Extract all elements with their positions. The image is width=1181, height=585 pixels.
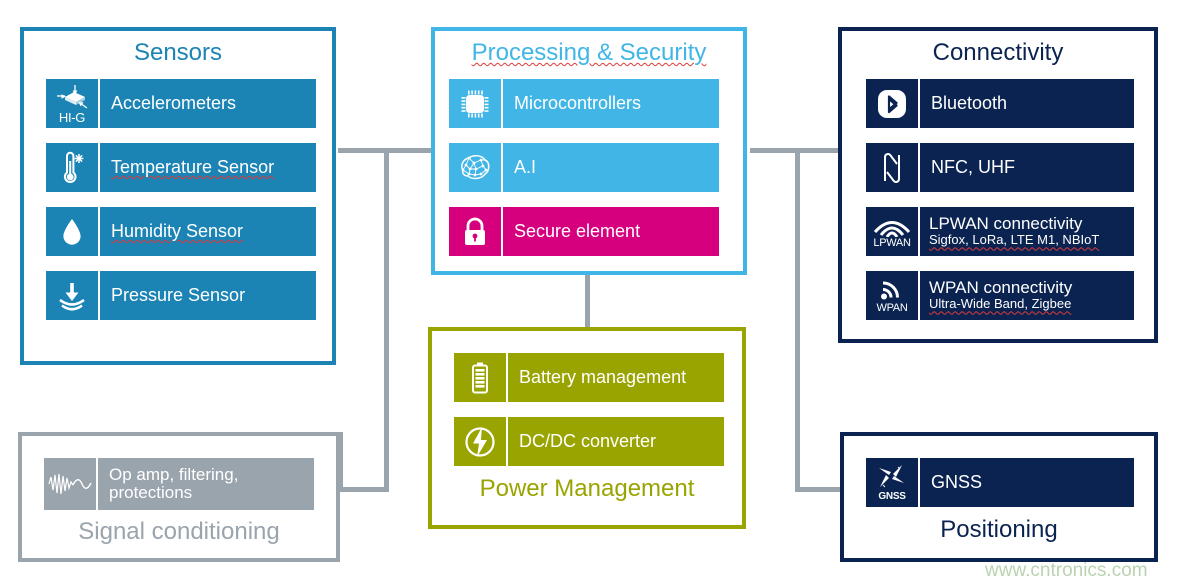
row-pressure-sensor[interactable]: Pressure Sensor [46, 271, 316, 320]
row-temperature-sensor[interactable]: Temperature Sensor [46, 143, 316, 192]
group-signal-conditioning: Op amp, filtering, protections Signal co… [18, 432, 340, 562]
chip-glyph [460, 89, 490, 119]
row-op-amp-filtering[interactable]: Op amp, filtering, protections [44, 458, 314, 510]
row-humidity-label: Humidity Sensor [100, 207, 316, 256]
group-sensors-title: Sensors [24, 39, 332, 67]
group-power-title: Power Management [432, 475, 742, 503]
accelerometer-glyph [55, 84, 89, 110]
wifi-arc-icon: LPWAN [866, 207, 918, 256]
group-connectivity: Connectivity Bluetooth N [838, 27, 1158, 343]
row-battery-management[interactable]: Battery management [454, 353, 724, 402]
group-positioning: GNSS GNSS Positioning [840, 432, 1158, 562]
row-dcdc-label: DC/DC converter [508, 417, 724, 466]
row-pressure-label: Pressure Sensor [100, 271, 316, 320]
nfc-glyph [879, 151, 905, 185]
group-connectivity-title: Connectivity [842, 39, 1154, 67]
wpan-icon-tag: WPAN [877, 303, 908, 314]
group-processing-security: Processing & Security [431, 27, 747, 275]
watermark-text: www.cntronics.com [985, 560, 1148, 582]
thermometer-glyph [59, 151, 85, 185]
row-nfc-uhf[interactable]: NFC, UHF [866, 143, 1134, 192]
row-label-text: GNSS [931, 473, 1134, 492]
connector-trunk-positioning [795, 487, 843, 492]
row-op-amp-label: Op amp, filtering, protections [98, 458, 314, 510]
group-sensors: Sensors HI-G Accelerometers [20, 27, 336, 365]
row-label-line1: Op amp, filtering, [109, 466, 314, 484]
row-gnss[interactable]: GNSS GNSS [866, 458, 1134, 507]
accelerometer-hi-g-icon: HI-G [46, 79, 98, 128]
accelerometer-icon-tag: HI-G [59, 111, 85, 124]
row-label-text: DC/DC converter [519, 432, 724, 451]
bolt-circle-glyph [463, 425, 497, 459]
lightning-bolt-circle-icon [454, 417, 506, 466]
row-sublabel-text: Ultra-Wide Band, Zigbee [929, 297, 1134, 312]
row-secure-element[interactable]: Secure element [449, 207, 719, 256]
row-label-text: Temperature Sensor [111, 158, 316, 177]
gnss-icon-tag: GNSS [878, 492, 905, 502]
row-ai[interactable]: A.I [449, 143, 719, 192]
thermometer-snowflake-icon [46, 143, 98, 192]
row-wpan[interactable]: WPAN WPAN connectivity Ultra-Wide Band, … [866, 271, 1134, 320]
wifi-arc-glyph [872, 215, 912, 237]
lpwan-icon-tag: LPWAN [873, 238, 910, 249]
connector-left-trunk [384, 148, 389, 492]
row-bluetooth[interactable]: Bluetooth [866, 79, 1134, 128]
row-gnss-label: GNSS [920, 458, 1134, 507]
signal-waves-glyph [878, 278, 906, 302]
connector-processing-power [585, 272, 590, 330]
bluetooth-icon [866, 79, 918, 128]
bluetooth-glyph [875, 87, 909, 121]
row-secure-element-label: Secure element [503, 207, 719, 256]
waveform-glyph [47, 471, 93, 497]
padlock-glyph [461, 216, 489, 248]
row-label-text: Secure element [514, 222, 719, 241]
row-label-text: LPWAN connectivity [929, 215, 1134, 233]
row-label-text: Humidity Sensor [111, 222, 316, 241]
brain-glyph [458, 153, 492, 183]
droplet-glyph [60, 216, 84, 248]
row-label-line2: protections [109, 484, 314, 502]
row-humidity-sensor[interactable]: Humidity Sensor [46, 207, 316, 256]
group-processing-title: Processing & Security [435, 39, 743, 67]
row-sublabel-text: Sigfox, LoRa, LTE M1, NBIoT [929, 233, 1134, 248]
row-nfc-uhf-label: NFC, UHF [920, 143, 1134, 192]
row-label-text: Pressure Sensor [111, 286, 316, 305]
compass-glyph [876, 463, 908, 491]
signal-waves-icon: WPAN [866, 271, 918, 320]
row-microcontrollers[interactable]: Microcontrollers [449, 79, 719, 128]
row-bluetooth-label: Bluetooth [920, 79, 1134, 128]
row-accelerometers[interactable]: HI-G Accelerometers [46, 79, 316, 128]
compass-gnss-icon: GNSS [866, 458, 918, 507]
brain-network-icon [449, 143, 501, 192]
connector-signal-trunk [340, 487, 388, 492]
row-label-text: Microcontrollers [514, 94, 719, 113]
row-wpan-label: WPAN connectivity Ultra-Wide Band, Zigbe… [920, 271, 1134, 320]
row-dcdc-converter[interactable]: DC/DC converter [454, 417, 724, 466]
battery-glyph [469, 361, 491, 395]
row-label-text: Accelerometers [111, 94, 316, 113]
row-label-text: WPAN connectivity [929, 279, 1134, 297]
group-positioning-title: Positioning [844, 516, 1154, 544]
pressure-arrow-waves-icon [46, 271, 98, 320]
pressure-glyph [56, 280, 88, 312]
row-accelerometers-label: Accelerometers [100, 79, 316, 128]
row-lpwan-label: LPWAN connectivity Sigfox, LoRa, LTE M1,… [920, 207, 1134, 256]
group-power-management: Battery management DC/DC converter Power… [428, 327, 746, 529]
water-drop-icon [46, 207, 98, 256]
group-signal-title: Signal conditioning [22, 518, 336, 546]
row-lpwan[interactable]: LPWAN LPWAN connectivity Sigfox, LoRa, L… [866, 207, 1134, 256]
waveform-icon [44, 458, 96, 510]
row-label-text: NFC, UHF [931, 158, 1134, 177]
nfc-icon [866, 143, 918, 192]
row-ai-label: A.I [503, 143, 719, 192]
row-label-text: Bluetooth [931, 94, 1134, 113]
iot-architecture-diagram: Sensors HI-G Accelerometers [0, 0, 1181, 585]
connector-right-trunk [795, 148, 800, 492]
row-temperature-label: Temperature Sensor [100, 143, 316, 192]
chip-icon [449, 79, 501, 128]
row-label-text: Battery management [519, 368, 724, 387]
row-battery-label: Battery management [508, 353, 724, 402]
battery-icon [454, 353, 506, 402]
row-microcontrollers-label: Microcontrollers [503, 79, 719, 128]
padlock-icon [449, 207, 501, 256]
row-label-text: A.I [514, 158, 719, 177]
